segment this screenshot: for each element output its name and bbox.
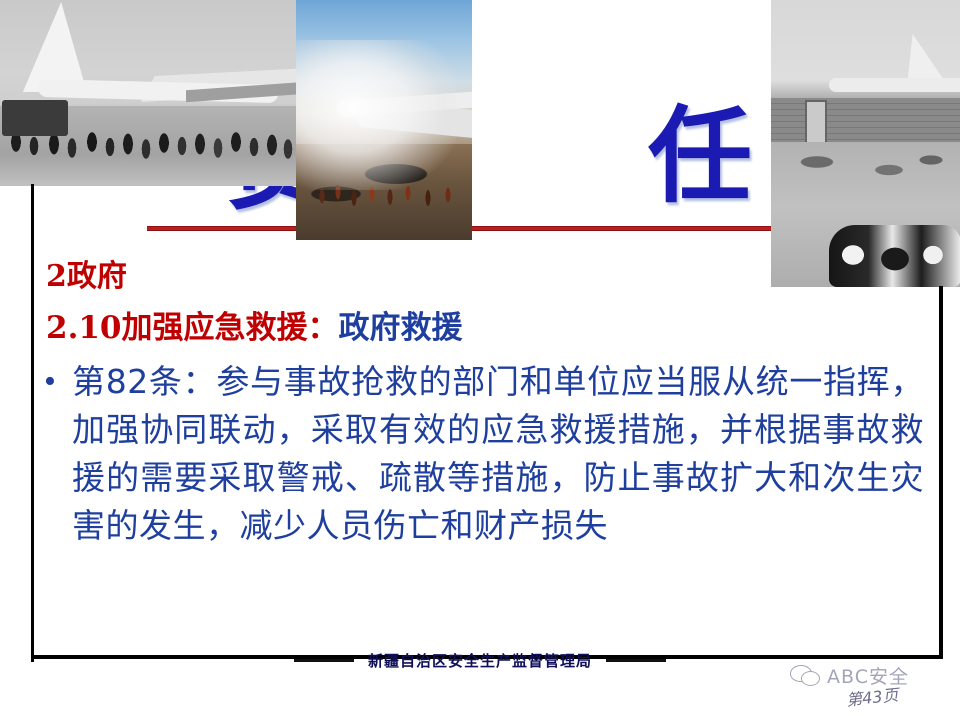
wechat-icon — [790, 665, 820, 687]
footer-dash-right — [606, 659, 666, 662]
footer-dash-left — [294, 659, 354, 662]
frame-left-border — [31, 184, 34, 662]
wechat-bubble-small — [801, 671, 820, 686]
bus-shape — [2, 100, 68, 136]
footer-organization: 新疆自治区安全生产监督管理局 — [368, 650, 592, 671]
frame-right-border — [939, 286, 943, 659]
aircraft-tail-shape-2 — [901, 34, 946, 82]
bullet-body-text: 第82条：参与事故抢救的部门和单位应当服从统一指挥，加强协同联动，采取有效的应急… — [72, 358, 924, 550]
frame-bottom-border — [31, 655, 943, 659]
aircraft-fuselage-shape-2 — [829, 78, 960, 92]
photo-burning-aircraft — [296, 0, 472, 240]
section-heading: 2政府 — [46, 251, 127, 295]
smoke-plume-shape — [296, 40, 456, 190]
subsection-heading-red: 2.10加强应急救援： — [46, 310, 339, 346]
subsection-heading-blue: 政府救援 — [339, 310, 463, 346]
bullet-marker-icon: • — [44, 358, 72, 406]
cows-shape — [829, 225, 960, 287]
doorway-shape — [805, 100, 827, 146]
subsection-heading: 2.10加强应急救援：政府救援 — [46, 302, 463, 347]
watermark-label: ABC安全 — [827, 662, 909, 689]
title-glyph-2: 任 — [648, 104, 752, 208]
brick-wall-shape — [771, 98, 960, 142]
page-number: 第43页 — [845, 681, 900, 710]
wechat-bubble-large — [790, 665, 812, 682]
slide-canvas: 责 任 2政府 2.10加强应急救援：政府救援 • 第82条：参与事故抢救的部门 — [0, 0, 960, 720]
slide-footer: 新疆自治区安全生产监督管理局 — [0, 650, 960, 671]
photo-aircraft-behind-wall — [771, 0, 960, 287]
wechat-watermark: ABC安全 — [790, 662, 909, 689]
bullet-item: • 第82条：参与事故抢救的部门和单位应当服从统一指挥，加强协同联动，采取有效的… — [44, 358, 924, 550]
photo-crash-site-crowd — [0, 0, 296, 186]
